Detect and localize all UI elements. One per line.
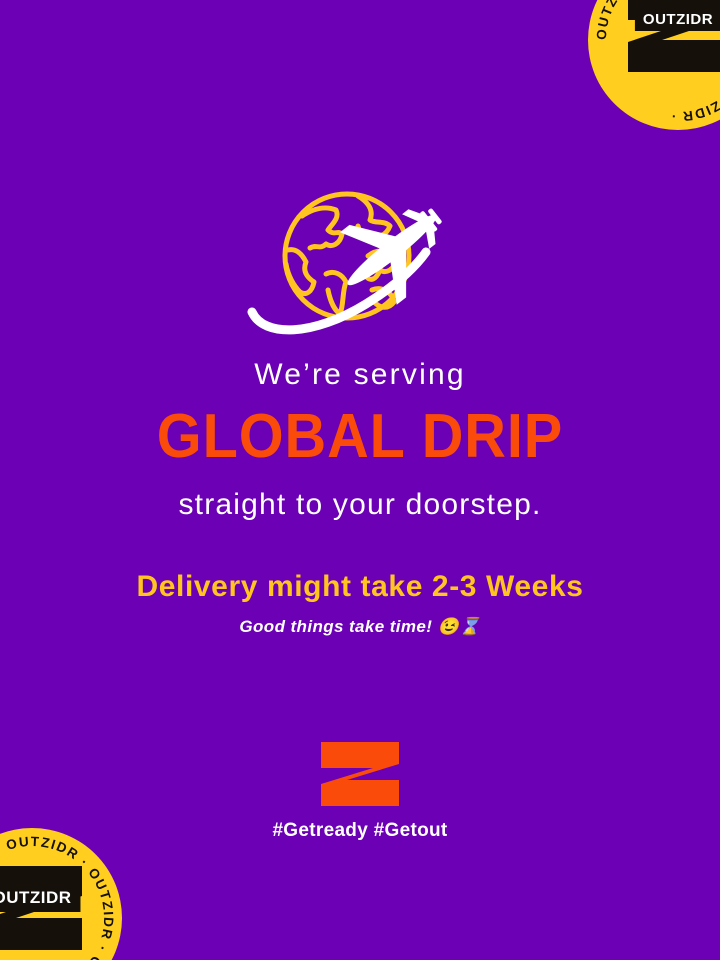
eyebrow-text: We’re serving <box>0 360 720 390</box>
delivery-notice-text: Delivery might take 2-3 Weeks <box>0 572 720 602</box>
badge-bottom-left: OUTZIDR · OUTZIDR · OUTZIDR · OUTZIDR · … <box>0 828 122 960</box>
footer-block: #Getready #Getout <box>0 742 720 842</box>
globe-airplane-icon <box>240 178 480 342</box>
promo-poster: OUTZIDR · OUTZIDR · OUTZIDR · OUTZIDR · … <box>0 0 720 960</box>
badge-wordmark-bottom-left: OUTZIDR <box>0 884 81 912</box>
tagline-text: Good things take time! 😉⌛ <box>0 618 720 635</box>
subline-text: straight to your doorstep. <box>0 490 720 520</box>
copy-block: We’re serving GLOBAL DRIP straight to yo… <box>0 360 720 635</box>
headline-text: GLOBAL DRIP <box>25 406 695 468</box>
outzidr-z-logo-icon <box>321 742 399 806</box>
badge-top-right: OUTZIDR · OUTZIDR · OUTZIDR · OUTZIDR · … <box>588 0 720 130</box>
badge-wordmark-top-right: OUTZIDR <box>635 8 720 31</box>
hashtags-text: #Getready #Getout <box>0 820 720 842</box>
